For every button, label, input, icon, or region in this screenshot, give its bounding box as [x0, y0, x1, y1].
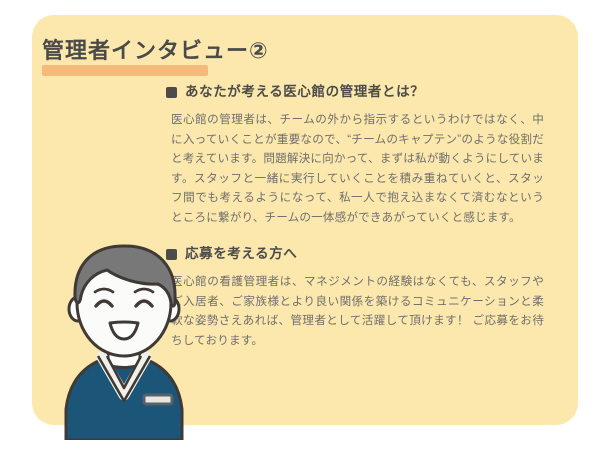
page-root: 管理者インタビュー② あなたが考える医心館の管理者とは？ 医心館の管理者は、チー… — [0, 0, 600, 450]
title-highlight-bar — [42, 65, 208, 76]
qa-block-1: あなたが考える医心館の管理者とは？ 医心館の管理者は、チームの外から指示するとい… — [166, 83, 558, 227]
interview-card: 管理者インタビュー② あなたが考える医心館の管理者とは？ 医心館の管理者は、チー… — [32, 15, 578, 425]
name-badge-icon — [144, 395, 172, 404]
question-heading-2-label: 応募を考える方へ — [185, 245, 297, 263]
answer-text-1: 医心館の管理者は、チームの外から指示するというわけではなく、中に入っていくことが… — [171, 110, 544, 227]
square-bullet-icon — [166, 87, 177, 98]
nurse-manager-illustration — [62, 243, 186, 440]
page-title: 管理者インタビュー② — [42, 37, 269, 77]
page-title-label: 管理者インタビュー② — [42, 37, 269, 65]
interview-content: あなたが考える医心館の管理者とは？ 医心館の管理者は、チームの外から指示するとい… — [166, 83, 558, 350]
question-heading-1-label: あなたが考える医心館の管理者とは？ — [185, 83, 424, 101]
answer-text-2: 医心館の看護管理者は、マネジメントの経験はなくても、スタッフやご入居者、ご家族様… — [171, 272, 544, 350]
qa-block-2: 応募を考える方へ 医心館の看護管理者は、マネジメントの経験はなくても、スタッフや… — [166, 245, 558, 350]
question-heading-2: 応募を考える方へ — [166, 245, 558, 263]
question-heading-1: あなたが考える医心館の管理者とは？ — [166, 83, 558, 101]
